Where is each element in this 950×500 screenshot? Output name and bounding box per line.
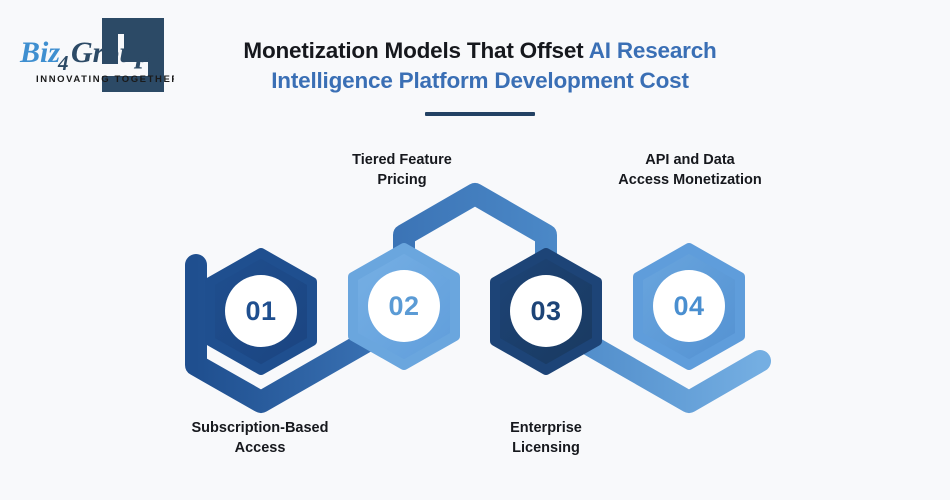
hex-number-4: 04 — [673, 291, 704, 321]
step-label-3-line2: Licensing — [470, 438, 622, 458]
hex-step-3[interactable]: 03 — [495, 253, 597, 370]
page-title: Monetization Models That Offset AI Resea… — [200, 36, 760, 116]
logo-wordmark-biz: Biz — [19, 36, 60, 69]
step-label-1-line2: Access — [160, 438, 360, 458]
hex-step-1[interactable]: 01 — [210, 253, 312, 370]
step-label-2-line1: Tiered Feature — [322, 150, 482, 170]
title-segment-blue-1: AI Research — [589, 38, 717, 63]
step-label-1: Subscription-Based Access — [160, 418, 360, 458]
step-label-3-line1: Enterprise — [470, 418, 622, 438]
hex-number-1: 01 — [245, 296, 276, 326]
step-label-1-line1: Subscription-Based — [160, 418, 360, 438]
step-label-4-line1: API and Data — [592, 150, 788, 170]
step-label-4: API and Data Access Monetization — [592, 150, 788, 190]
step-label-2: Tiered Feature Pricing — [322, 150, 482, 190]
biz4group-logo-mark: Biz 4 Group INNOVATING TOGETHER — [14, 14, 174, 96]
step-label-4-line2: Access Monetization — [592, 170, 788, 190]
logo-tagline: INNOVATING TOGETHER — [36, 74, 174, 85]
step-label-2-line2: Pricing — [322, 170, 482, 190]
brand-logo[interactable]: Biz 4 Group INNOVATING TOGETHER — [14, 14, 174, 96]
logo-wordmark-four: 4 — [57, 51, 69, 75]
logo-wordmark-group: Group — [71, 36, 151, 69]
title-line-1: Monetization Models That Offset AI Resea… — [200, 36, 760, 66]
hex-number-3: 03 — [530, 296, 561, 326]
title-underline-rule — [425, 112, 535, 116]
step-label-3: Enterprise Licensing — [470, 418, 622, 458]
hex-step-4[interactable]: 04 — [638, 248, 740, 365]
title-segment-dark: Monetization Models That Offset — [243, 38, 588, 63]
hex-number-2: 02 — [388, 291, 419, 321]
title-line-2: Intelligence Platform Development Cost — [200, 66, 760, 96]
hex-step-2[interactable]: 02 — [353, 248, 455, 365]
